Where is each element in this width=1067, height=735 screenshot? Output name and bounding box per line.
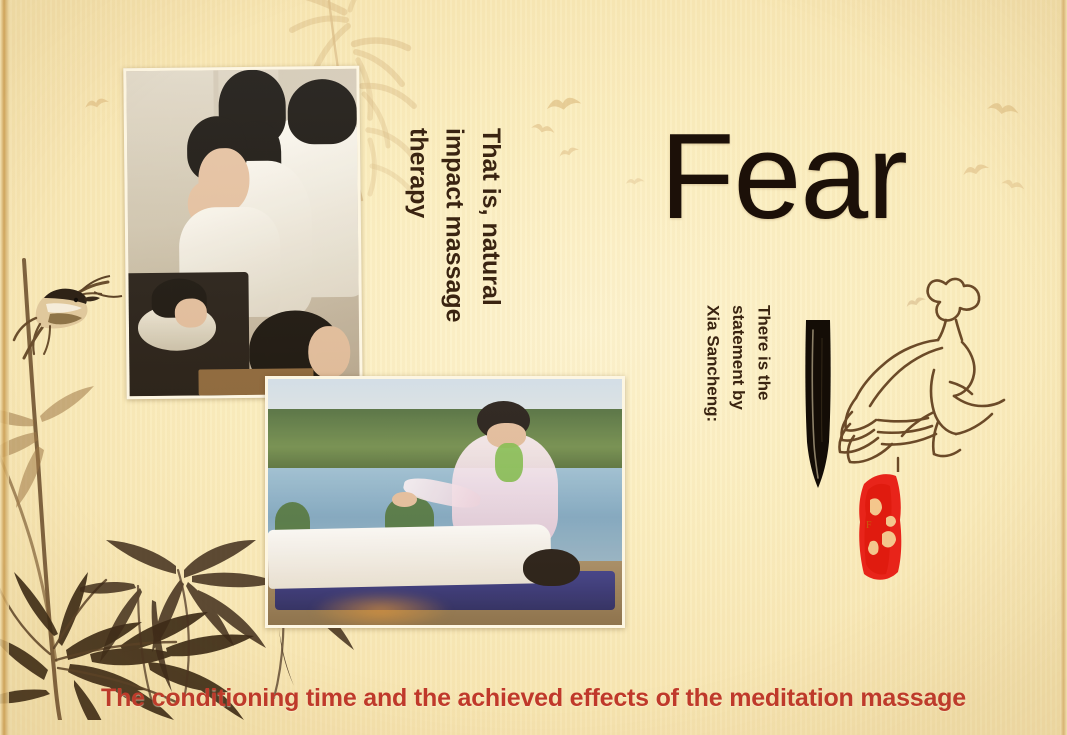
swallow-silhouette-icon xyxy=(83,93,112,114)
client-face xyxy=(308,326,350,378)
vertical-note-attribution: There is the statement by Xia Sancheng: xyxy=(700,305,777,470)
vertical-line-1: That is, natural xyxy=(477,128,505,306)
presentation-slide: Fear That is, natural impact massage the… xyxy=(0,0,1067,735)
therapist-hand xyxy=(392,492,417,507)
client-head xyxy=(523,549,580,586)
swallow-silhouette-icon xyxy=(624,175,645,189)
seated-figure-line-drawing xyxy=(838,272,1006,472)
swallow-silhouette-icon xyxy=(998,175,1027,197)
white-sheet xyxy=(267,524,551,589)
green-scarf xyxy=(495,443,523,482)
page-title: Fear xyxy=(660,115,907,237)
svg-text:F: F xyxy=(866,520,872,531)
foreground-light-blur xyxy=(310,591,452,628)
vertical-line-1: There is the xyxy=(755,305,774,400)
vertical-line-2: impact massage xyxy=(441,128,469,323)
swallow-silhouette-icon xyxy=(960,159,991,182)
vertical-line-2: statement by xyxy=(729,305,748,410)
indoor-massage-photo xyxy=(123,66,362,399)
right-border-strip xyxy=(1060,0,1067,735)
client-face xyxy=(175,298,207,328)
calligraphy-brush-stroke xyxy=(802,318,834,490)
swallow-silhouette-icon xyxy=(557,143,582,162)
bird-on-branch xyxy=(6,262,136,372)
vertical-line-3: therapy xyxy=(404,128,432,218)
swallow-silhouette-icon xyxy=(544,91,585,118)
therapist-hair xyxy=(287,79,357,145)
swallow-silhouette-icon xyxy=(529,119,558,140)
swallow-silhouette-icon xyxy=(985,97,1022,123)
slide-caption: The conditioning time and the achieved e… xyxy=(0,684,1067,713)
outdoor-lakeside-massage-photo xyxy=(265,376,625,628)
left-border-strip xyxy=(0,0,9,735)
vertical-line-3: Xia Sancheng: xyxy=(704,305,723,422)
chinese-red-seal: F xyxy=(856,466,908,584)
treeline-region xyxy=(268,409,622,473)
vertical-note-therapy: That is, natural impact massage therapy xyxy=(400,128,509,378)
